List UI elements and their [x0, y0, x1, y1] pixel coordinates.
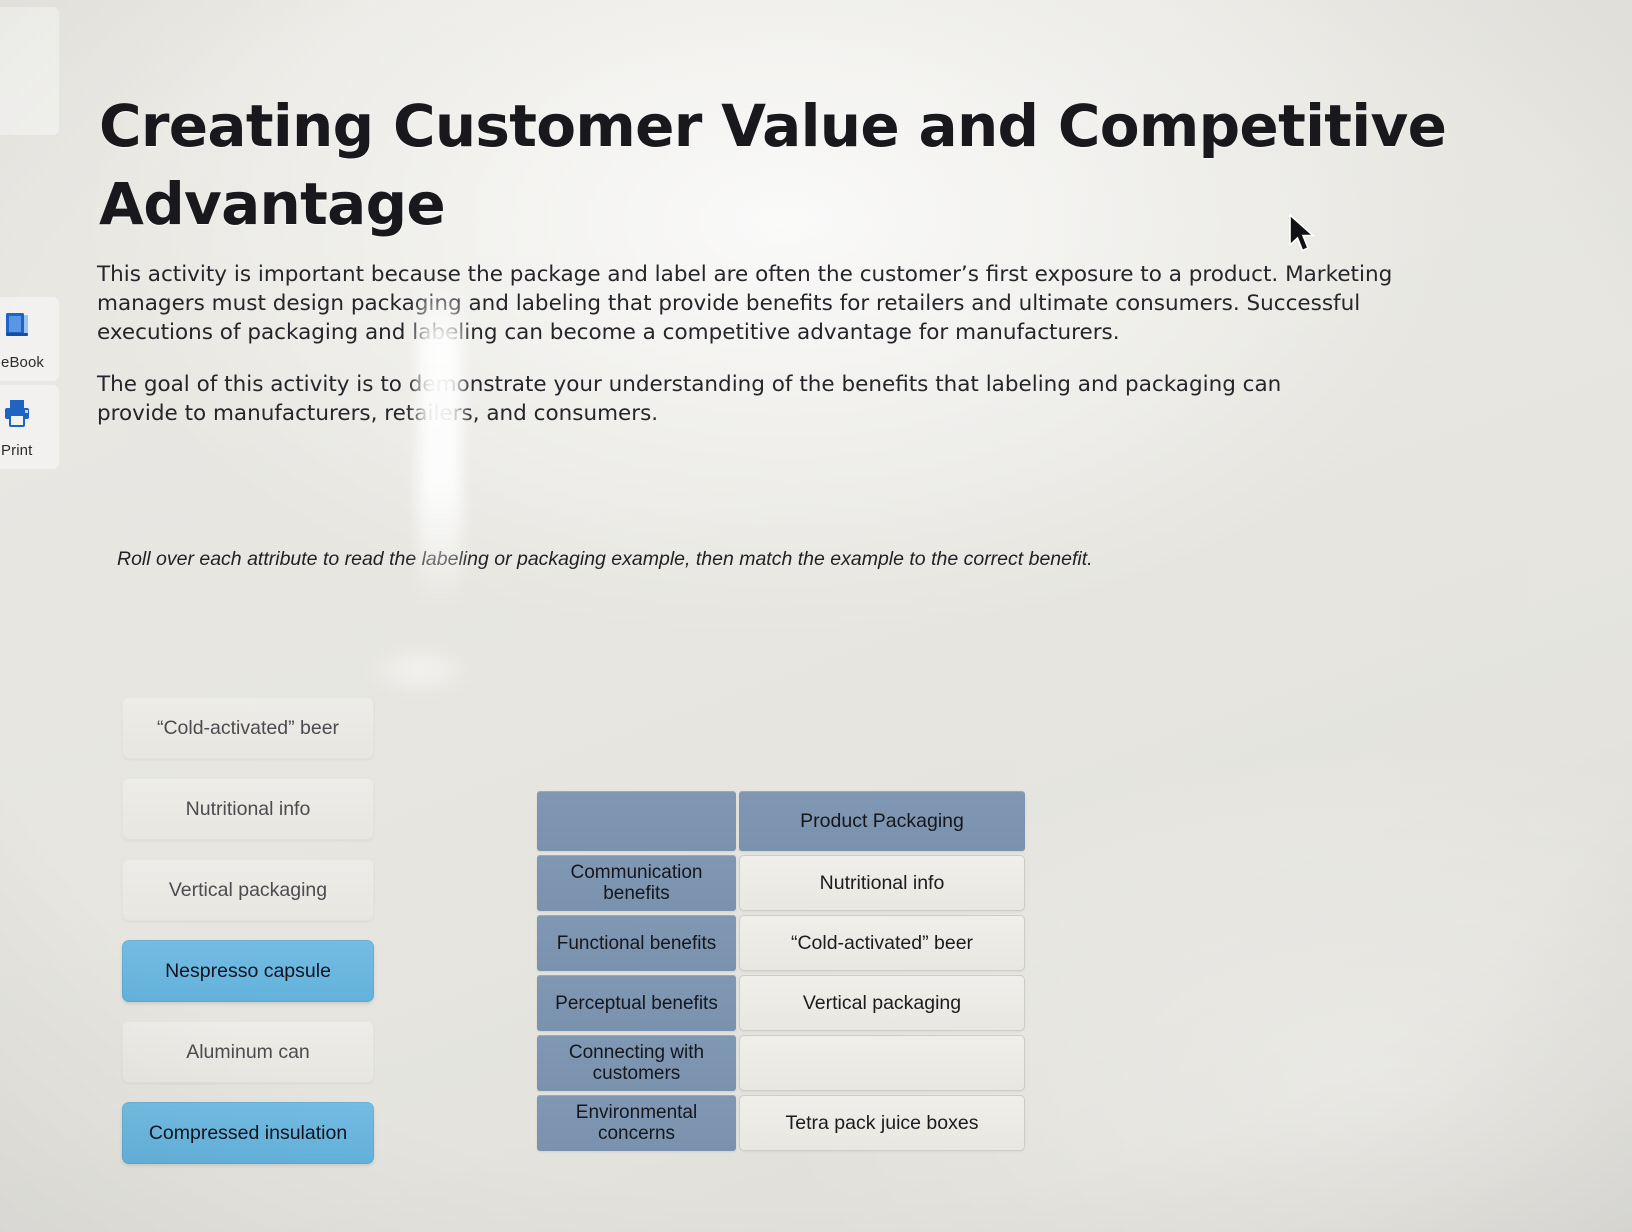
- list-item[interactable]: Nutritional info: [122, 778, 374, 840]
- benefit-row-label[interactable]: Communication benefits: [537, 855, 736, 911]
- dropzone-filled[interactable]: “Cold-activated” beer: [739, 915, 1025, 971]
- dropzone-filled[interactable]: Tetra pack juice boxes: [739, 1095, 1025, 1151]
- dropzone-empty[interactable]: [739, 1035, 1025, 1091]
- source-item-label: “Cold-activated” beer: [157, 717, 339, 740]
- benefit-row-label[interactable]: Environmental concerns: [537, 1095, 736, 1151]
- list-item[interactable]: Vertical packaging: [122, 859, 374, 921]
- benefit-row-label[interactable]: Functional benefits: [537, 915, 736, 971]
- dropzone-filled[interactable]: Nutritional info: [739, 855, 1025, 911]
- benefit-row-label[interactable]: Perceptual benefits: [537, 975, 736, 1031]
- list-item[interactable]: Aluminum can: [122, 1021, 374, 1083]
- benefit-category-column: Communication benefits Functional benefi…: [537, 791, 736, 1155]
- dropzone-filled[interactable]: Vertical packaging: [739, 975, 1025, 1031]
- source-item-label: Nutritional info: [186, 798, 311, 821]
- source-item-label: Aluminum can: [186, 1041, 310, 1064]
- list-item-selected[interactable]: Nespresso capsule: [122, 940, 374, 1002]
- source-item-label: Nespresso capsule: [165, 960, 331, 983]
- source-item-label: Compressed insulation: [149, 1122, 347, 1145]
- matching-activity-widget: “Cold-activated” beer Nutritional info V…: [0, 0, 1632, 1232]
- product-packaging-dropzone-column: Product Packaging Nutritional info “Cold…: [739, 791, 1025, 1155]
- benefit-row-label[interactable]: Connecting with customers: [537, 1035, 736, 1091]
- list-item[interactable]: “Cold-activated” beer: [122, 697, 374, 759]
- target-column-header: Product Packaging: [739, 791, 1025, 851]
- main-content: Creating Customer Value and Competitive …: [0, 0, 1632, 1232]
- source-item-label: Vertical packaging: [169, 879, 327, 902]
- list-item-selected[interactable]: Compressed insulation: [122, 1102, 374, 1164]
- attribute-source-column: “Cold-activated” beer Nutritional info V…: [122, 697, 374, 1183]
- benefit-column-header: [537, 791, 736, 851]
